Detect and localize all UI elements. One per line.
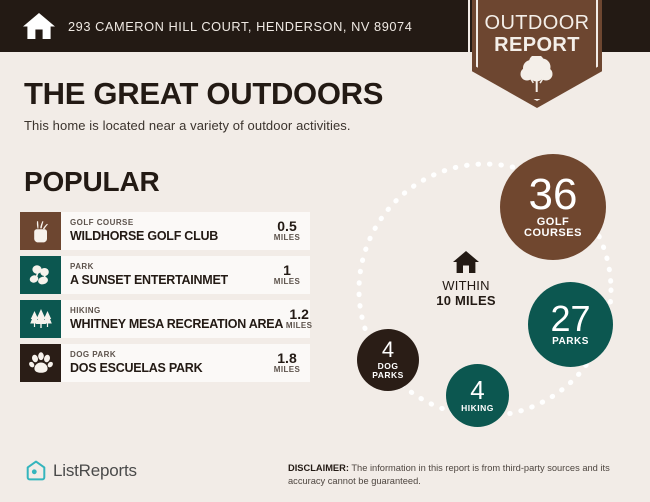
paw-print-icon <box>20 344 61 382</box>
stat-label: GOLF COURSES <box>524 217 582 240</box>
badge-line-1: OUTDOOR <box>472 13 602 33</box>
stat-value: 27 <box>550 302 590 336</box>
stat-circle-golf-courses[interactable]: 36 GOLF COURSES <box>500 154 606 260</box>
list-item[interactable]: DOG PARK DOS ESCUELAS PARK 1.8 MILES <box>20 344 310 382</box>
property-address: 293 CAMERON HILL COURT, HENDERSON, NV 89… <box>68 19 412 34</box>
stat-label-line2: PARKS <box>372 370 404 380</box>
popular-heading: POPULAR <box>24 168 160 196</box>
list-item-unit: MILES <box>271 366 303 374</box>
list-item-distance: 1.2 <box>283 307 315 322</box>
stat-label-line1: GOLF <box>537 216 570 228</box>
list-item[interactable]: GOLF COURSE WILDHORSE GOLF CLUB 0.5 MILE… <box>20 212 310 250</box>
list-item-name: A SUNSET ENTERTAINMET <box>70 274 228 287</box>
list-item-category: PARK <box>70 263 228 271</box>
list-item[interactable]: HIKING WHITNEY MESA RECREATION AREA 1.2 … <box>20 300 310 338</box>
list-item-distance: 1.8 <box>271 351 303 366</box>
list-item-distance: 0.5 <box>271 219 303 234</box>
list-item-unit: MILES <box>271 278 303 286</box>
stat-value: 36 <box>529 174 578 216</box>
home-icon <box>452 250 480 275</box>
listreports-house-icon <box>26 460 46 481</box>
radius-center-marker: WITHIN 10 MILES <box>430 250 502 309</box>
radius-line-1: WITHIN <box>430 279 502 294</box>
list-item-unit: MILES <box>271 234 303 242</box>
list-item[interactable]: PARK A SUNSET ENTERTAINMET 1 MILES <box>20 256 310 294</box>
tree-icon <box>520 56 554 97</box>
page-subtitle: This home is located near a variety of o… <box>24 118 351 133</box>
stat-circle-hiking[interactable]: 4 HIKING <box>446 364 509 427</box>
outdoor-report-infographic: 293 CAMERON HILL COURT, HENDERSON, NV 89… <box>0 0 650 502</box>
disclaimer-label: DISCLAIMER: <box>288 463 349 473</box>
page-title: THE GREAT OUTDOORS <box>24 78 383 109</box>
stat-value: 4 <box>382 340 394 361</box>
list-item-unit: MILES <box>283 322 315 330</box>
pine-trees-icon <box>20 300 61 338</box>
list-item-name: DOS ESCUELAS PARK <box>70 362 202 375</box>
list-item-category: DOG PARK <box>70 351 202 359</box>
golf-bag-icon <box>20 212 61 250</box>
park-trees-icon <box>20 256 61 294</box>
stat-label-line2: COURSES <box>524 227 582 239</box>
stat-circle-parks[interactable]: 27 PARKS <box>528 282 613 367</box>
stat-circle-dog-parks[interactable]: 4 DOG PARKS <box>357 329 419 391</box>
radius-line-2: 10 MILES <box>430 294 502 309</box>
list-item-distance: 1 <box>271 263 303 278</box>
disclaimer: DISCLAIMER: The information in this repo… <box>288 462 626 489</box>
list-item-name: WILDHORSE GOLF CLUB <box>70 230 218 243</box>
listreports-logo[interactable]: ListReports <box>26 460 137 481</box>
stat-label: DOG PARKS <box>372 362 404 380</box>
list-item-category: HIKING <box>70 307 283 315</box>
stat-label: HIKING <box>461 404 494 413</box>
listreports-wordmark: ListReports <box>53 461 137 481</box>
list-item-category: GOLF COURSE <box>70 219 218 227</box>
badge-line-2: REPORT <box>472 35 602 55</box>
list-item-name: WHITNEY MESA RECREATION AREA <box>70 318 283 331</box>
header-divider <box>468 0 470 52</box>
home-icon <box>22 11 56 41</box>
stat-label: PARKS <box>552 337 589 348</box>
stat-value: 4 <box>470 378 484 403</box>
outdoor-report-badge: OUTDOOR REPORT <box>472 0 602 108</box>
popular-places-list: GOLF COURSE WILDHORSE GOLF CLUB 0.5 MILE… <box>20 212 310 388</box>
